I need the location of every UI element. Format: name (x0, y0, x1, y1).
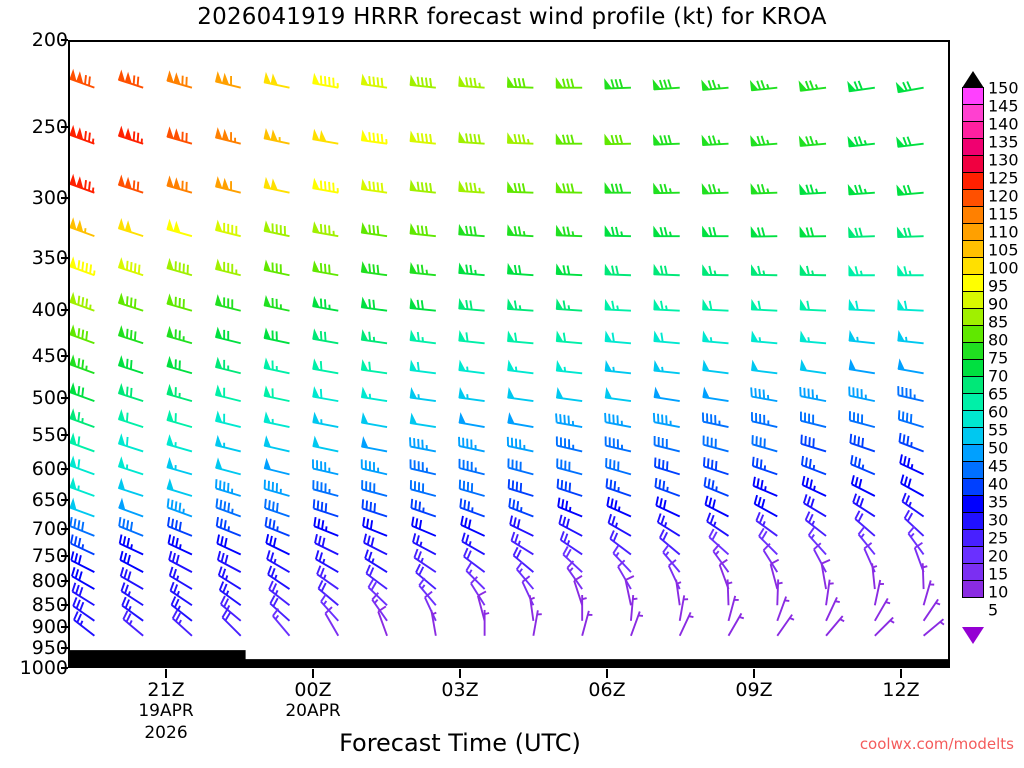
wind-barb (313, 262, 338, 275)
wind-barb (826, 597, 840, 620)
wind-barb (119, 127, 144, 143)
colorbar-cell (962, 376, 984, 394)
wind-barb (900, 454, 923, 474)
wind-barb (460, 480, 485, 496)
wind-barb (168, 517, 192, 536)
wind-barb (777, 615, 794, 636)
wind-barb (777, 597, 789, 621)
wind-barb (704, 477, 728, 496)
site-watermark: coolwx.com/modelts (860, 735, 1014, 753)
wind-barb (313, 388, 338, 401)
wind-barb (410, 76, 436, 88)
wind-barb (605, 300, 631, 310)
colorbar-cell (962, 410, 984, 428)
wind-barb (897, 228, 923, 237)
wind-barb (801, 412, 826, 427)
wind-barb (70, 457, 94, 474)
wind-barb (826, 616, 844, 636)
x-tick-label: 21Z (147, 679, 184, 701)
wind-barb (751, 266, 777, 275)
wind-barb (361, 331, 387, 343)
wind-barb (799, 81, 826, 91)
y-axis-labels: 2002503003504004505005506006507007508008… (0, 0, 68, 768)
wind-barb (119, 176, 144, 192)
wind-barb (459, 332, 485, 344)
wind-barb (809, 528, 826, 555)
wind-barb (752, 361, 778, 373)
wind-barb (653, 80, 679, 90)
wind-barb (264, 297, 289, 311)
wind-barb (264, 387, 289, 401)
wind-barb (851, 455, 875, 474)
wind-barb (702, 136, 728, 145)
wind-barb (410, 264, 436, 276)
wind-barb (167, 128, 192, 144)
wind-barb (924, 599, 940, 620)
wind-barb (119, 71, 144, 87)
wind-barb (655, 478, 679, 496)
wind-barb (459, 361, 485, 373)
wind-barb (680, 595, 688, 620)
colorbar-cell (962, 240, 984, 258)
wind-barb (751, 300, 777, 310)
wind-barb (216, 260, 241, 275)
wind-barb (508, 300, 534, 311)
wind-barb (459, 459, 484, 474)
wind-barb (361, 388, 387, 401)
wind-barb (849, 266, 875, 275)
wind-barb (729, 613, 744, 635)
wind-barb (363, 517, 387, 536)
wind-barb (605, 265, 631, 275)
wind-barb (606, 478, 630, 496)
wind-barb (314, 517, 338, 536)
wind-barb (605, 227, 631, 236)
colorbar-tick-label: 120 (988, 187, 1019, 206)
wind-barb (410, 389, 436, 401)
wind-barb (849, 228, 875, 237)
wind-barb (752, 435, 777, 451)
wind-barb (216, 178, 241, 193)
wind-barb (574, 576, 582, 605)
x-tick-mark (753, 669, 755, 678)
wind-barb (654, 332, 680, 343)
colorbar-cell (962, 308, 984, 326)
colorbar-tick-label: 35 (988, 493, 1008, 512)
wind-barb (459, 300, 485, 311)
wind-barb (70, 70, 94, 87)
wind-barb (119, 385, 144, 401)
colorbar-tick-label: 140 (988, 115, 1019, 134)
wind-barb (508, 78, 534, 88)
wind-barb (751, 80, 778, 90)
x-tick-mark (165, 669, 167, 678)
wind-barb (216, 459, 241, 474)
wind-barb (378, 606, 387, 635)
wind-barb (557, 458, 582, 474)
wind-barb (751, 184, 777, 193)
wind-barb (924, 580, 935, 605)
colorbar-tick-label: 115 (988, 205, 1019, 224)
wind-barb (508, 389, 534, 401)
wind-barb (801, 435, 826, 452)
wind-barb (655, 458, 680, 475)
wind-barb (654, 227, 680, 236)
wind-barb (875, 598, 890, 620)
wind-barb (751, 227, 777, 236)
wind-barb (313, 459, 338, 474)
wind-barb-field (70, 42, 948, 666)
wind-barb (606, 458, 631, 474)
wind-barb (216, 221, 241, 236)
wind-barb (217, 517, 241, 536)
y-tick-mark (61, 434, 68, 436)
wind-barb (71, 535, 94, 555)
wind-barb (167, 480, 192, 496)
x-tick-label: 12Z (882, 679, 919, 701)
colorbar-tick-label: 5 (988, 601, 998, 620)
wind-barb (924, 619, 944, 636)
wind-barb (411, 480, 436, 496)
wind-barb (167, 177, 192, 193)
wind-barb (557, 389, 583, 401)
colorbar-cell (962, 104, 984, 122)
wind-barb (313, 179, 338, 192)
wind-barb (168, 498, 192, 516)
wind-barb (609, 514, 631, 536)
wind-barb (264, 74, 289, 88)
wind-barb (605, 135, 631, 144)
colorbar-cell (962, 393, 984, 411)
wind-barb (530, 595, 535, 621)
wind-barb (872, 563, 877, 589)
wind-barb (800, 185, 826, 194)
wind-barb (702, 184, 728, 193)
wind-barb (508, 414, 533, 427)
wind-barb (799, 136, 826, 146)
wind-barb (459, 77, 485, 88)
wind-barb (216, 358, 241, 373)
colorbar-cell (962, 257, 984, 275)
wind-barb (522, 576, 533, 605)
x-tick-label: 03Z (441, 679, 478, 701)
colorbar-cell (962, 512, 984, 530)
wind-barb (703, 266, 729, 275)
colorbar-tick-label: 20 (988, 547, 1008, 566)
colorbar-cell (962, 478, 984, 496)
wind-barb (850, 411, 875, 427)
wind-barb (508, 226, 534, 236)
wind-barb (707, 513, 728, 536)
x-tick-mark (900, 669, 902, 678)
colorbar-cell (962, 223, 984, 241)
wind-barb (654, 300, 680, 310)
wind-barb (362, 414, 387, 427)
wind-barb (703, 388, 729, 401)
wind-barb (556, 362, 582, 374)
wind-barb (556, 300, 582, 311)
wind-barb (849, 360, 875, 373)
wind-barb (655, 436, 680, 451)
colorbar-cell (962, 121, 984, 139)
wind-barb (119, 259, 144, 275)
wind-barb (485, 610, 489, 636)
wind-barb (703, 227, 729, 236)
wind-barb (923, 563, 928, 589)
wind-barb (703, 361, 729, 373)
wind-barb (216, 412, 241, 427)
colorbar-tick-label: 145 (988, 97, 1019, 116)
colorbar-tick-label: 110 (988, 223, 1019, 242)
colorbar-cell (962, 155, 984, 173)
colorbar-cell (962, 444, 984, 462)
wind-barb (556, 79, 582, 88)
wind-barb (460, 498, 484, 516)
wind-barb (654, 388, 680, 401)
colorbar-tick-label: 15 (988, 565, 1008, 584)
wind-barb (362, 438, 387, 452)
wind-barb (605, 184, 631, 193)
colorbar-cell (962, 189, 984, 207)
wind-barb (800, 266, 826, 275)
wind-barb (852, 475, 875, 496)
wind-barb (605, 389, 631, 401)
wind-barb (167, 220, 192, 236)
x-tick-mark (459, 669, 461, 678)
wind-barb (361, 263, 387, 275)
x-tick-label: 06Z (588, 679, 625, 701)
wind-barb (216, 328, 241, 343)
wind-profile-plot[interactable] (68, 40, 950, 668)
wind-barb (703, 413, 729, 428)
wind-barb (264, 179, 289, 193)
wind-barb (410, 459, 435, 474)
y-tick-mark (61, 126, 68, 128)
wind-barb (607, 497, 631, 517)
x-tick-mark (312, 669, 314, 678)
wind-barb (216, 129, 241, 144)
wind-barb (800, 387, 826, 401)
wind-barb (313, 437, 338, 451)
wind-barb (859, 527, 875, 554)
wind-barb (361, 361, 387, 373)
colorbar-tick-label: 130 (988, 151, 1019, 170)
wind-barb (875, 580, 884, 605)
colorbar-cell (962, 495, 984, 513)
colorbar-under-arrow (962, 627, 984, 644)
colorbar-cell (962, 529, 984, 547)
wind-barb (70, 175, 94, 192)
y-tick-mark (61, 197, 68, 199)
colorbar[interactable] (962, 88, 984, 598)
wind-barb (755, 495, 778, 516)
wind-barb (901, 475, 924, 496)
wind-barb (899, 410, 924, 427)
wind-barb (70, 294, 94, 311)
wind-barb (362, 459, 387, 474)
wind-barb (899, 433, 923, 451)
wind-barb (582, 611, 592, 636)
wind-barb (728, 579, 733, 605)
colorbar-cell (962, 274, 984, 292)
y-tick-mark (61, 626, 68, 628)
y-tick-mark (61, 309, 68, 311)
wind-barb (508, 265, 534, 276)
wind-barb (898, 300, 924, 310)
wind-barb (361, 75, 387, 87)
wind-barb (362, 499, 387, 516)
colorbar-cell (962, 87, 984, 105)
y-tick-mark (61, 555, 68, 557)
colorbar-cell (962, 138, 984, 156)
wind-barb (826, 580, 834, 606)
wind-barb (167, 385, 192, 401)
x-tick-label: 09Z (735, 679, 772, 701)
colorbar-tick-label: 30 (988, 511, 1008, 530)
y-tick-mark (61, 499, 68, 501)
wind-barb (898, 332, 924, 344)
wind-barb (70, 384, 94, 401)
wind-barb (264, 413, 289, 427)
wind-barb (167, 436, 192, 452)
x-tick-label: 00Z (294, 679, 331, 701)
page-title: 2026041919 HRRR forecast wind profile (k… (0, 4, 1024, 30)
wind-barb (605, 413, 631, 427)
wind-barb (898, 386, 923, 401)
wind-barb (557, 436, 582, 451)
colorbar-cell (962, 172, 984, 190)
wind-barb (803, 476, 826, 496)
wind-barb (70, 356, 94, 373)
wind-barb (70, 326, 94, 343)
colorbar-tick-label: 40 (988, 475, 1008, 494)
colorbar-tick-label: 75 (988, 349, 1008, 368)
wind-barb (459, 389, 485, 401)
wind-barb (172, 597, 192, 621)
wind-barb (313, 297, 338, 310)
wind-barb (654, 184, 680, 193)
wind-barb (431, 610, 436, 635)
y-tick-mark (61, 580, 68, 582)
wind-barb (759, 528, 777, 554)
wind-barb (556, 413, 582, 427)
wind-barb (751, 136, 777, 146)
colorbar-over-arrow (962, 71, 984, 88)
wind-barb (898, 266, 924, 275)
y-tick-mark (61, 39, 68, 41)
wind-barb (70, 126, 94, 143)
wind-barb (119, 220, 144, 236)
wind-barb (897, 137, 924, 147)
wind-barb (848, 185, 874, 195)
y-tick-mark (61, 355, 68, 357)
y-tick-mark (61, 257, 68, 259)
colorbar-tick-label: 70 (988, 367, 1008, 386)
wind-barb (264, 130, 289, 144)
colorbar-tick-label: 125 (988, 169, 1019, 188)
wind-barb (325, 607, 338, 636)
wind-barb (898, 360, 923, 373)
wind-barb (702, 80, 729, 90)
wind-barb (70, 219, 94, 236)
colorbar-tick-label: 25 (988, 529, 1008, 548)
wind-barb (119, 357, 144, 373)
wind-barb (753, 457, 777, 475)
colorbar-tick-label: 135 (988, 133, 1019, 152)
wind-barb (800, 227, 826, 236)
wind-barb (313, 413, 338, 427)
wind-barb (663, 545, 680, 572)
wind-barb (459, 182, 485, 193)
wind-barb (221, 596, 241, 621)
wind-barb (459, 437, 485, 452)
colorbar-cell (962, 291, 984, 309)
wind-barb (556, 183, 582, 192)
wind-barb (167, 260, 192, 276)
wind-barb (556, 265, 582, 275)
colorbar-tick-label: 85 (988, 313, 1008, 332)
y-tick-mark (61, 468, 68, 470)
wind-barb (167, 72, 192, 88)
wind-barb (703, 332, 729, 343)
wind-barb (466, 563, 484, 589)
wind-barb (313, 74, 338, 87)
wind-barb (459, 264, 485, 275)
wind-barb (658, 513, 680, 535)
wind-barb (605, 79, 631, 88)
wind-barb (508, 332, 534, 343)
wind-barb (753, 477, 777, 496)
wind-barb (70, 410, 94, 427)
wind-barb (167, 328, 192, 344)
wind-barb (216, 498, 240, 516)
wind-barb (216, 296, 241, 311)
wind-barb (410, 225, 436, 237)
wind-barb (508, 361, 534, 373)
wind-barb (802, 456, 826, 474)
wind-barb (613, 546, 631, 573)
wind-barb (70, 479, 94, 496)
wind-barb (119, 411, 144, 427)
colorbar-cell (962, 461, 984, 479)
wind-barb (848, 136, 875, 146)
wind-barb (70, 499, 94, 516)
wind-barb (313, 223, 338, 236)
wind-barb (167, 411, 192, 427)
wind-barb (73, 597, 94, 620)
wind-barb (654, 413, 680, 427)
wind-barb (167, 459, 192, 475)
colorbar-tick-label: 80 (988, 331, 1008, 350)
wind-barb (313, 480, 338, 496)
wind-barb (654, 362, 680, 374)
wind-barb (508, 134, 534, 144)
wind-barb (703, 300, 729, 310)
wind-barb (804, 494, 826, 516)
wind-barb (606, 436, 631, 451)
wind-barb (654, 135, 680, 144)
wind-barb (264, 359, 289, 373)
wind-barb (558, 479, 583, 496)
wind-barb (705, 496, 728, 517)
wind-barb (631, 595, 637, 621)
wind-barb (410, 361, 436, 373)
wind-barb (875, 618, 894, 636)
wind-barb (362, 480, 387, 496)
wind-barb (556, 226, 582, 236)
wind-barb (265, 517, 289, 536)
colorbar-tick-label: 45 (988, 457, 1008, 476)
